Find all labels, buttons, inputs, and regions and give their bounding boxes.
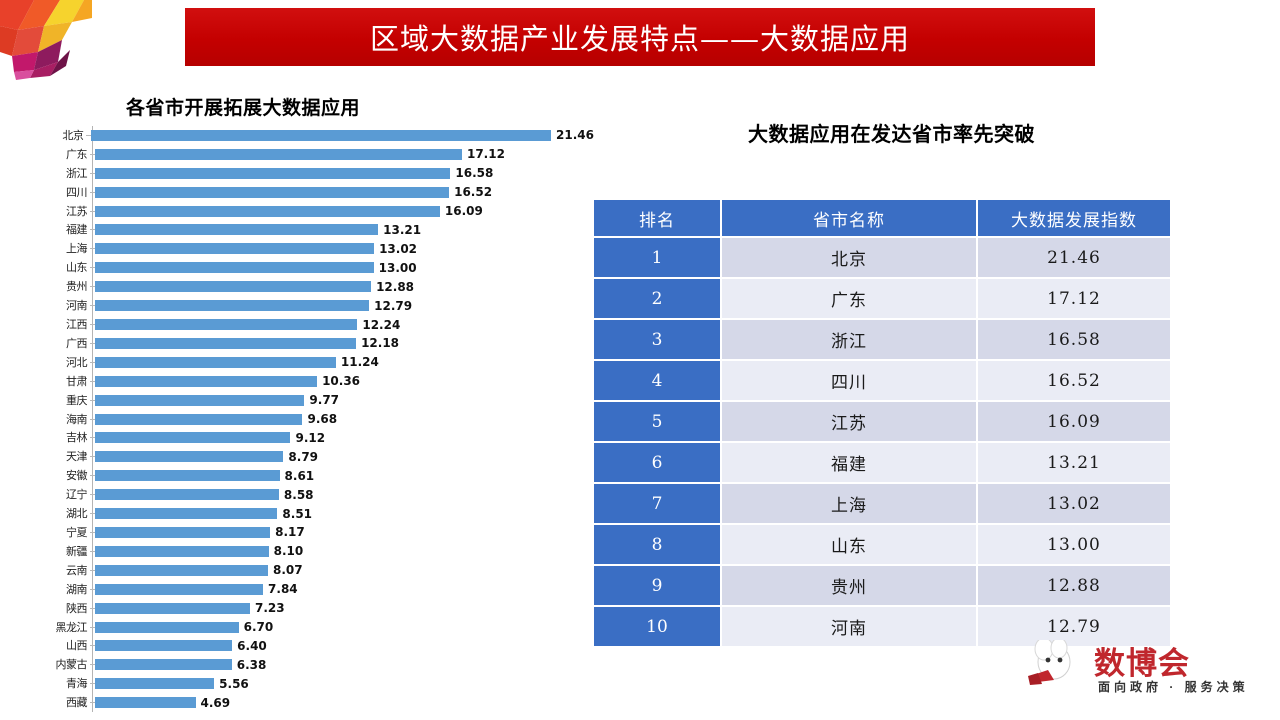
polygon-art-decoration (0, 0, 92, 82)
cell-rank: 4 (594, 361, 720, 400)
chart-bar (95, 187, 449, 198)
chart-bar-wrap: 7.84 (95, 580, 594, 599)
chart-category-label: 河北 (34, 357, 90, 368)
chart-bar-wrap: 16.52 (95, 183, 594, 202)
chart-category-label: 江西 (34, 319, 90, 330)
chart-row: 江西12.24 (34, 315, 594, 334)
chart-category-label: 黑龙江 (34, 622, 90, 633)
chart-row: 湖南7.84 (34, 580, 594, 599)
chart-bar-wrap: 8.61 (95, 466, 594, 485)
chart-bar-wrap: 6.38 (95, 655, 594, 674)
chart-value-label: 16.09 (445, 204, 483, 218)
chart-value-label: 8.07 (273, 563, 303, 577)
logo-tagline: 面向政府 · 服务决策 (1098, 678, 1249, 695)
chart-bar (95, 206, 440, 217)
cell-index-value: 13.21 (978, 443, 1170, 482)
chart-category-label: 辽宁 (34, 489, 90, 500)
chart-bar-wrap: 9.68 (95, 410, 594, 429)
chart-row: 浙江16.58 (34, 164, 594, 183)
chart-row: 陕西7.23 (34, 599, 594, 618)
chart-row: 重庆9.77 (34, 391, 594, 410)
chart-bar-wrap: 21.46 (91, 126, 594, 145)
chart-bar (95, 224, 378, 235)
chart-value-label: 8.61 (285, 469, 315, 483)
chart-value-label: 16.58 (455, 166, 493, 180)
chart-category-label: 甘肃 (34, 376, 90, 387)
cell-index-value: 17.12 (978, 279, 1170, 318)
chart-value-label: 8.58 (284, 488, 314, 502)
chart-row: 北京21.46 (34, 126, 594, 145)
table-row: 1北京21.46 (594, 238, 1170, 277)
chart-bar (95, 565, 268, 576)
chart-row: 云南8.07 (34, 561, 594, 580)
chart-category-label: 海南 (34, 414, 90, 425)
chart-bar (95, 376, 317, 387)
chart-bar (95, 697, 196, 708)
chart-row-list: 北京21.46广东17.12浙江16.58四川16.52江苏16.09福建13.… (34, 126, 594, 712)
chart-bar-wrap: 8.17 (95, 523, 594, 542)
chart-value-label: 6.70 (244, 620, 274, 634)
chart-bar (95, 678, 214, 689)
chart-value-label: 13.00 (379, 261, 417, 275)
chart-bar-wrap: 13.21 (95, 221, 594, 240)
chart-category-label: 青海 (34, 678, 90, 689)
chart-heading: 各省市开展拓展大数据应用 (126, 93, 360, 120)
chart-value-label: 11.24 (341, 355, 379, 369)
chart-bar (95, 603, 250, 614)
chart-bar (95, 527, 270, 538)
chart-bar (95, 338, 356, 349)
cell-province-name: 上海 (722, 484, 976, 523)
cell-province-name: 北京 (722, 238, 976, 277)
cell-province-name: 山东 (722, 525, 976, 564)
column-header-name: 省市名称 (722, 200, 976, 236)
chart-category-label: 浙江 (34, 168, 90, 179)
chart-bar (95, 168, 450, 179)
table-heading: 大数据应用在发达省市率先突破 (748, 118, 1035, 147)
chart-row: 安徽8.61 (34, 466, 594, 485)
chart-category-label: 广东 (34, 149, 90, 160)
chart-value-label: 10.36 (322, 374, 360, 388)
chart-bar (95, 470, 280, 481)
chart-row: 广西12.18 (34, 334, 594, 353)
chart-category-label: 山东 (34, 262, 90, 273)
title-banner: 区域大数据产业发展特点——大数据应用 (185, 8, 1095, 66)
chart-row: 西藏4.69 (34, 693, 594, 712)
chart-row: 河北11.24 (34, 353, 594, 372)
chart-value-label: 9.12 (295, 431, 325, 445)
chart-bar-wrap: 8.10 (95, 542, 594, 561)
cell-province-name: 贵州 (722, 566, 976, 605)
chart-bar (95, 546, 269, 557)
chart-bar (95, 243, 374, 254)
table-row: 8山东13.00 (594, 525, 1170, 564)
table-row: 3浙江16.58 (594, 320, 1170, 359)
chart-value-label: 8.17 (275, 525, 305, 539)
chart-bar (95, 640, 232, 651)
cell-index-value: 13.00 (978, 525, 1170, 564)
cell-index-value: 13.02 (978, 484, 1170, 523)
cell-rank: 7 (594, 484, 720, 523)
chart-row: 河南12.79 (34, 296, 594, 315)
chart-value-label: 9.77 (309, 393, 339, 407)
cell-rank: 2 (594, 279, 720, 318)
chart-value-label: 9.68 (307, 412, 337, 426)
chart-row: 吉林9.12 (34, 429, 594, 448)
chart-category-label: 云南 (34, 565, 90, 576)
page-title: 区域大数据产业发展特点——大数据应用 (370, 16, 910, 58)
chart-category-label: 四川 (34, 187, 90, 198)
logo-wordmark: 数博会 (1094, 638, 1190, 683)
chart-category-label: 吉林 (34, 432, 90, 443)
chart-row: 内蒙古6.38 (34, 655, 594, 674)
chart-value-label: 16.52 (454, 185, 492, 199)
cell-rank: 1 (594, 238, 720, 277)
chart-row: 湖北8.51 (34, 504, 594, 523)
chart-row: 山西6.40 (34, 636, 594, 655)
chart-bar-wrap: 6.40 (95, 636, 594, 655)
chart-bar (95, 508, 277, 519)
chart-value-label: 17.12 (467, 147, 505, 161)
chart-bar-wrap: 13.02 (95, 239, 594, 258)
chart-bar-wrap: 12.18 (95, 334, 594, 353)
chart-value-label: 12.18 (361, 336, 399, 350)
cell-index-value: 12.88 (978, 566, 1170, 605)
chart-value-label: 7.23 (255, 601, 285, 615)
chart-row: 贵州12.88 (34, 277, 594, 296)
chart-category-label: 贵州 (34, 281, 90, 292)
chart-value-label: 21.46 (556, 128, 594, 142)
chart-value-label: 4.69 (201, 696, 231, 710)
chart-bar (95, 432, 290, 443)
chart-bar (95, 489, 279, 500)
chart-category-label: 湖南 (34, 584, 90, 595)
chart-value-label: 7.84 (268, 582, 298, 596)
cell-province-name: 江苏 (722, 402, 976, 441)
chart-bar-wrap: 12.79 (95, 296, 594, 315)
cell-rank: 6 (594, 443, 720, 482)
chart-value-label: 8.51 (282, 507, 312, 521)
chart-bar (95, 451, 283, 462)
chart-value-label: 12.24 (362, 318, 400, 332)
ranking-table: 排名 省市名称 大数据发展指数 1北京21.462广东17.123浙江16.58… (592, 198, 1172, 648)
chart-bar (95, 395, 304, 406)
chart-bar-wrap: 10.36 (95, 372, 594, 391)
chart-bar (91, 130, 551, 141)
chart-bar-wrap: 8.79 (95, 447, 594, 466)
chart-bar-wrap: 11.24 (95, 353, 594, 372)
logo-mark-icon (1028, 640, 1094, 688)
chart-bar (95, 149, 462, 160)
chart-value-label: 12.79 (374, 299, 412, 313)
cell-index-value: 16.09 (978, 402, 1170, 441)
chart-value-label: 8.10 (274, 544, 304, 558)
chart-bar (95, 300, 369, 311)
chart-bar (95, 262, 374, 273)
chart-value-label: 13.02 (379, 242, 417, 256)
chart-bar (95, 357, 336, 368)
chart-row: 山东13.00 (34, 258, 594, 277)
chart-bar-wrap: 4.69 (95, 693, 594, 712)
cell-province-name: 浙江 (722, 320, 976, 359)
chart-category-label: 重庆 (34, 395, 90, 406)
chart-bar-wrap: 12.88 (95, 277, 594, 296)
chart-value-label: 12.88 (376, 280, 414, 294)
chart-row: 辽宁8.58 (34, 485, 594, 504)
table-row: 2广东17.12 (594, 279, 1170, 318)
chart-bar (95, 319, 357, 330)
chart-bar-wrap: 13.00 (95, 258, 594, 277)
chart-category-label: 河南 (34, 300, 90, 311)
chart-category-label: 新疆 (34, 546, 90, 557)
table-row: 7上海13.02 (594, 484, 1170, 523)
chart-value-label: 5.56 (219, 677, 249, 691)
chart-bar-wrap: 8.07 (95, 561, 594, 580)
chart-category-label: 安徽 (34, 470, 90, 481)
brand-logo: 数博会 面向政府 · 服务决策 (1028, 636, 1268, 706)
cell-province-name: 广东 (722, 279, 976, 318)
chart-bar-wrap: 17.12 (95, 145, 594, 164)
chart-bar (95, 414, 302, 425)
cell-rank: 9 (594, 566, 720, 605)
chart-value-label: 6.40 (237, 639, 267, 653)
table-row: 9贵州12.88 (594, 566, 1170, 605)
chart-bar-wrap: 16.09 (95, 202, 594, 221)
chart-bar-wrap: 7.23 (95, 599, 594, 618)
chart-value-label: 6.38 (237, 658, 267, 672)
chart-bar-wrap: 16.58 (95, 164, 594, 183)
table-row: 5江苏16.09 (594, 402, 1170, 441)
chart-value-label: 13.21 (383, 223, 421, 237)
cell-rank: 5 (594, 402, 720, 441)
chart-category-label: 山西 (34, 640, 90, 651)
chart-bar (95, 659, 232, 670)
cell-index-value: 16.58 (978, 320, 1170, 359)
chart-row: 江苏16.09 (34, 202, 594, 221)
chart-bar-wrap: 9.77 (95, 391, 594, 410)
chart-category-label: 西藏 (34, 697, 90, 708)
chart-category-label: 福建 (34, 224, 90, 235)
chart-row: 四川16.52 (34, 183, 594, 202)
chart-bar-wrap: 12.24 (95, 315, 594, 334)
chart-value-label: 8.79 (288, 450, 318, 464)
cell-province-name: 福建 (722, 443, 976, 482)
chart-bar (95, 281, 371, 292)
chart-bar-wrap: 5.56 (95, 674, 594, 693)
table-header-row: 排名 省市名称 大数据发展指数 (594, 200, 1170, 236)
cell-rank: 3 (594, 320, 720, 359)
chart-bar (95, 584, 263, 595)
chart-bar-wrap: 9.12 (95, 429, 594, 448)
chart-row: 新疆8.10 (34, 542, 594, 561)
chart-bar-wrap: 8.58 (95, 485, 594, 504)
table-row: 4四川16.52 (594, 361, 1170, 400)
cell-rank: 10 (594, 607, 720, 646)
chart-row: 广东17.12 (34, 145, 594, 164)
chart-row: 海南9.68 (34, 410, 594, 429)
chart-category-label: 陕西 (34, 603, 90, 614)
chart-category-label: 天津 (34, 451, 90, 462)
chart-bar-wrap: 8.51 (95, 504, 594, 523)
chart-category-label: 江苏 (34, 206, 90, 217)
chart-row: 青海5.56 (34, 674, 594, 693)
chart-row: 上海13.02 (34, 239, 594, 258)
chart-category-label: 上海 (34, 243, 90, 254)
cell-province-name: 四川 (722, 361, 976, 400)
chart-category-label: 湖北 (34, 508, 90, 519)
chart-row: 甘肃10.36 (34, 372, 594, 391)
bar-chart: 北京21.46广东17.12浙江16.58四川16.52江苏16.09福建13.… (34, 126, 594, 712)
cell-rank: 8 (594, 525, 720, 564)
chart-row: 黑龙江6.70 (34, 618, 594, 637)
chart-category-label: 内蒙古 (34, 659, 90, 670)
column-header-rank: 排名 (594, 200, 720, 236)
chart-category-label: 宁夏 (34, 527, 90, 538)
cell-index-value: 21.46 (978, 238, 1170, 277)
chart-row: 天津8.79 (34, 447, 594, 466)
chart-category-label: 北京 (34, 130, 86, 141)
cell-province-name: 河南 (722, 607, 976, 646)
cell-index-value: 16.52 (978, 361, 1170, 400)
chart-category-label: 广西 (34, 338, 90, 349)
chart-row: 宁夏8.17 (34, 523, 594, 542)
table-row: 6福建13.21 (594, 443, 1170, 482)
chart-bar (95, 622, 239, 633)
chart-bar-wrap: 6.70 (95, 618, 594, 637)
chart-row: 福建13.21 (34, 221, 594, 240)
column-header-index: 大数据发展指数 (978, 200, 1170, 236)
